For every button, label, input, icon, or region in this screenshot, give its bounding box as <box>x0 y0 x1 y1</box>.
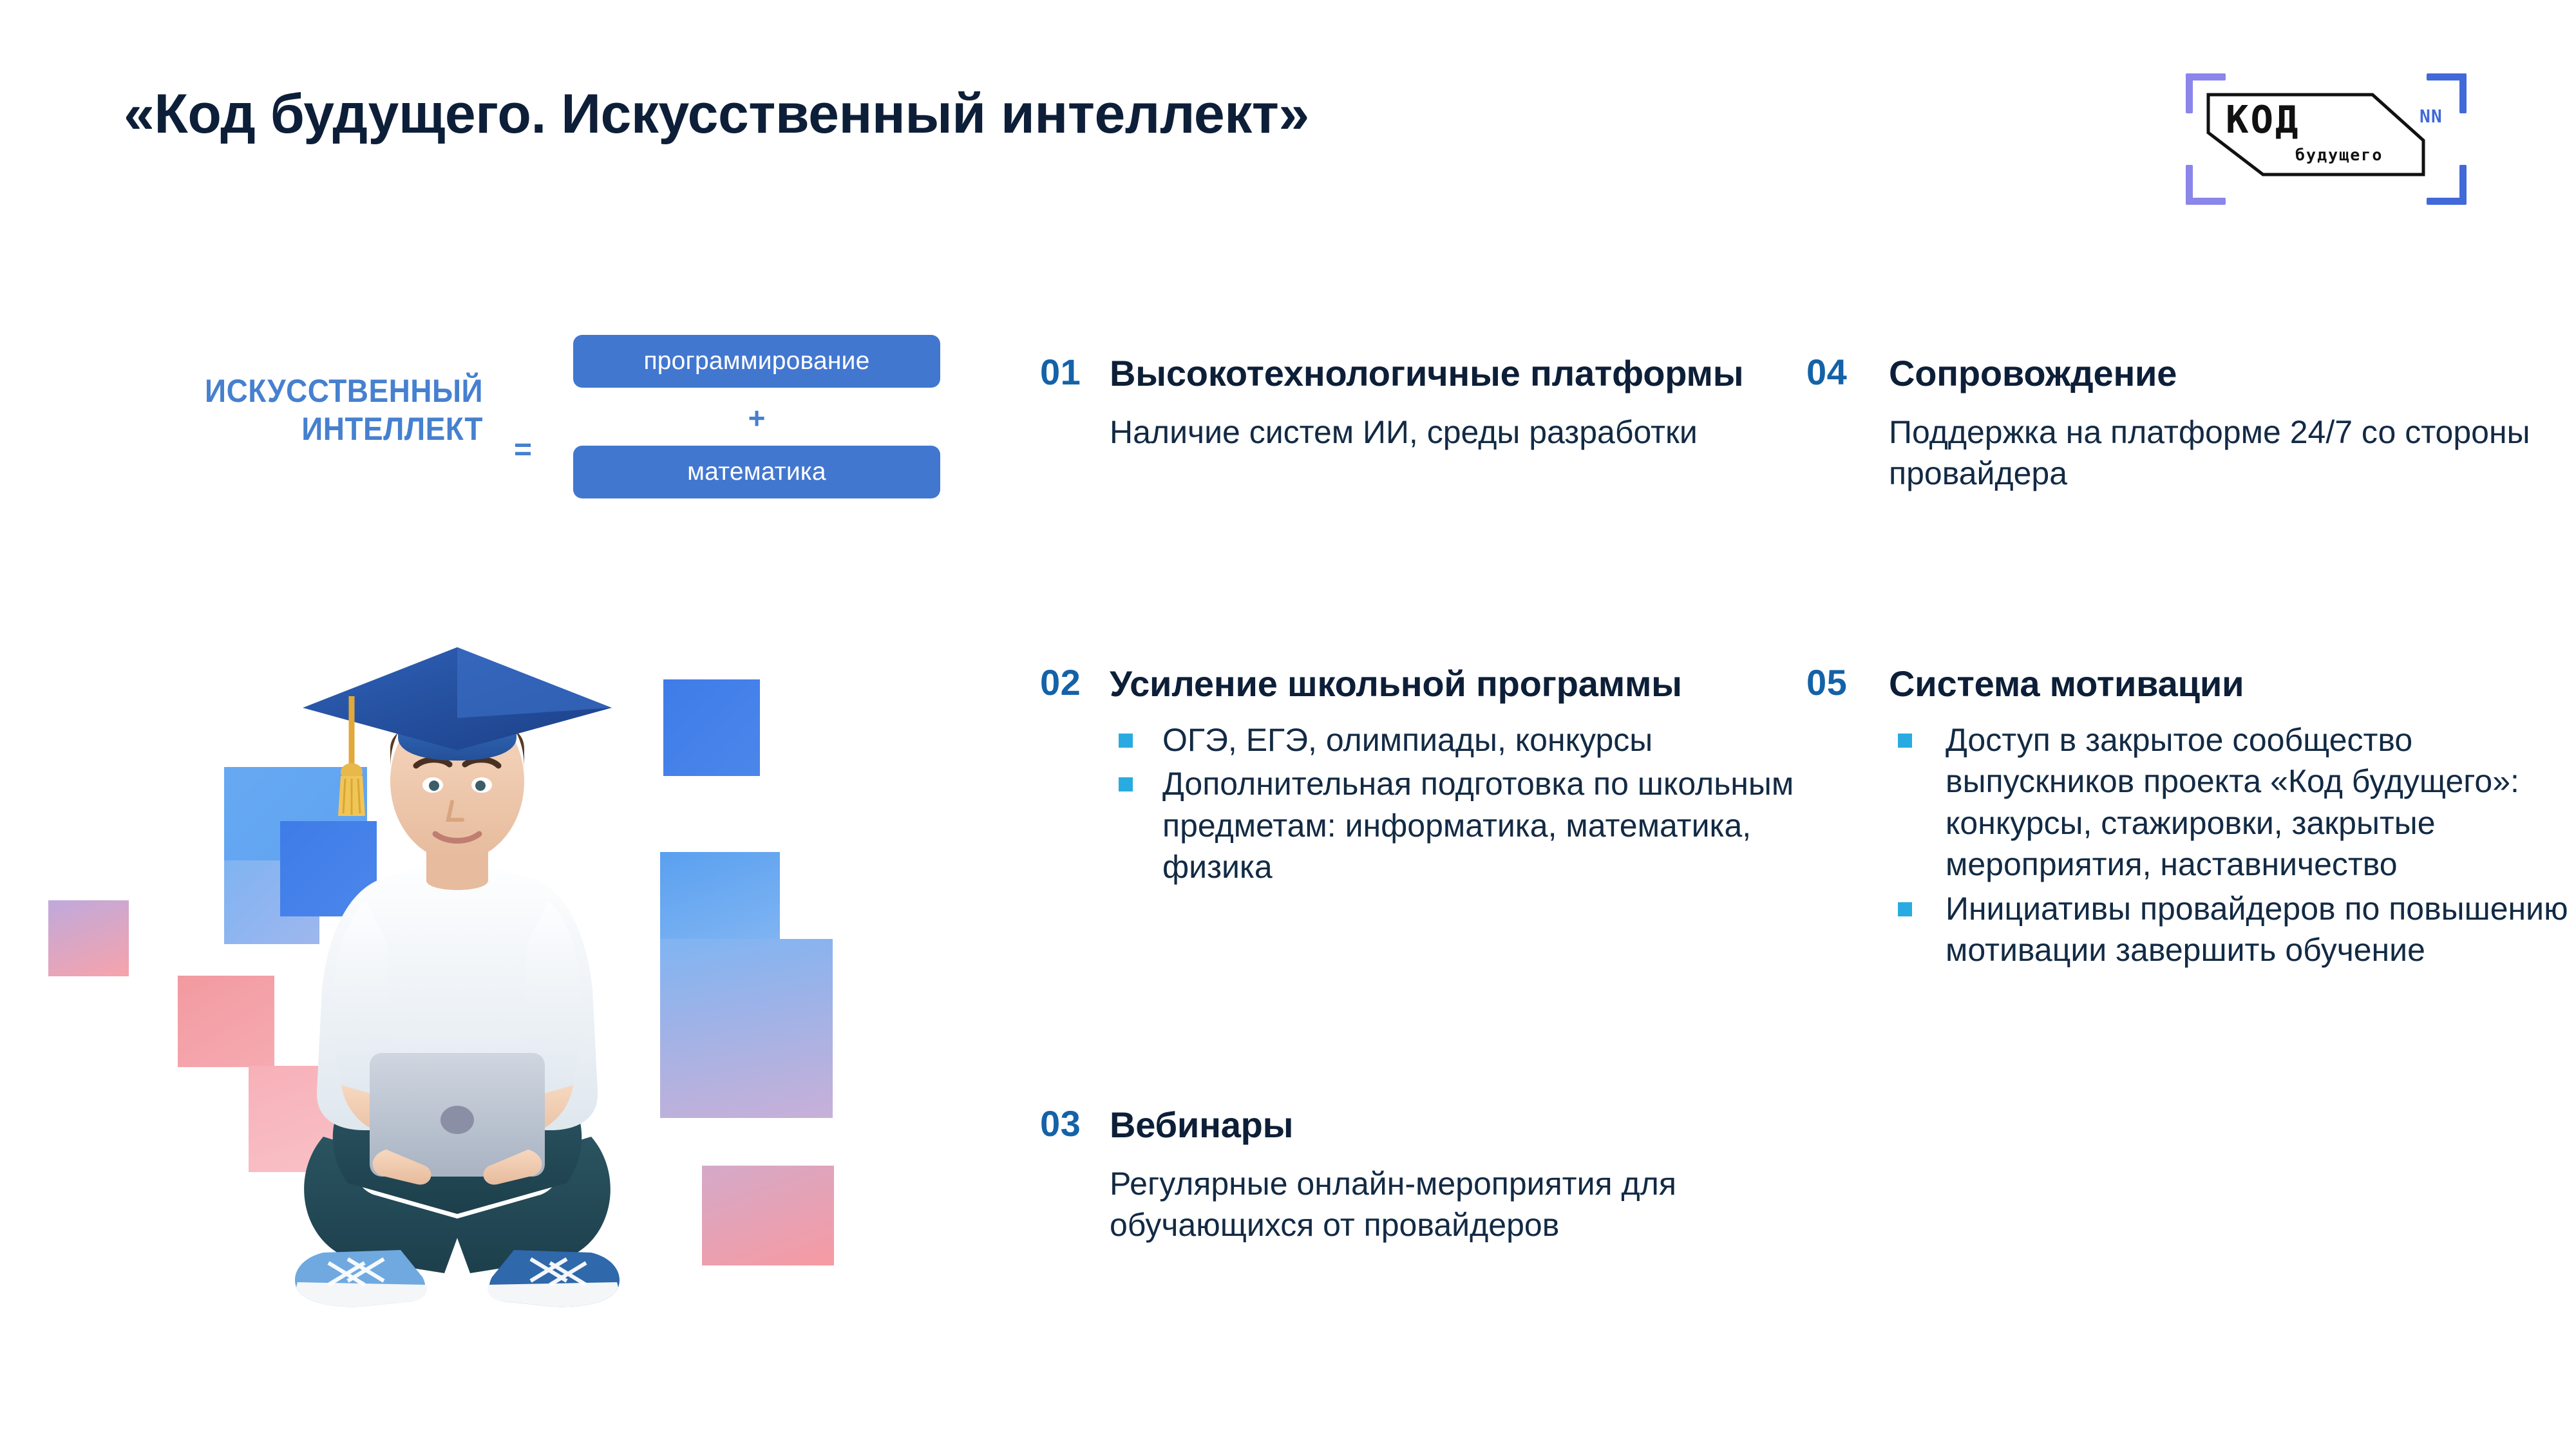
feature-item-04-number: 04 <box>1806 353 1889 392</box>
mosaic-square <box>660 939 833 1118</box>
feature-item-01-body: Наличие систем ИИ, среды разработки <box>1040 412 1864 453</box>
feature-item-01: 01 Высокотехнологичные платформы Наличие… <box>1040 353 1864 453</box>
page-title: «Код будущего. Искусственный интеллект» <box>124 82 1309 146</box>
ai-formula-label-line1: ИСКУССТВЕННЫЙ <box>151 372 483 410</box>
slide-root: «Код будущего. Искусственный интеллект» … <box>0 0 2576 1449</box>
mosaic-square <box>48 900 129 976</box>
feature-item-01-head: 01 Высокотехнологичные платформы <box>1040 353 1864 395</box>
mosaic-square <box>660 852 780 939</box>
logo-badge-ii: ИИ <box>2419 106 2442 127</box>
bullet-square-icon <box>1898 902 1912 916</box>
feature-item-05-bullet-list: Доступ в закрытое сообщество выпускников… <box>1806 719 2576 971</box>
ai-formula-label-line2: ИНТЕЛЛЕКТ <box>151 410 483 448</box>
student-illustration <box>58 641 824 1356</box>
ai-formula-label: ИСКУССТВЕННЫЙ ИНТЕЛЛЕКТ <box>151 372 483 448</box>
bullet-square-icon <box>1898 734 1912 748</box>
feature-item-04-head: 04 Сопровождение <box>1806 353 2566 395</box>
list-item-text: ОГЭ, ЕГЭ, олимпиады, конкурсы <box>1162 722 1653 758</box>
feature-item-02-title: Усиление школьной программы <box>1110 663 1682 705</box>
bullet-square-icon <box>1119 777 1133 791</box>
student-figure-icon <box>251 641 663 1356</box>
list-item-text: Доступ в закрытое сообщество выпускников… <box>1946 722 2519 883</box>
feature-item-02: 02 Усиление школьной программы ОГЭ, ЕГЭ,… <box>1040 663 1826 891</box>
feature-item-01-number: 01 <box>1040 353 1110 392</box>
ai-formula-terms: программирование + математика <box>573 335 940 498</box>
feature-item-03: 03 Вебинары Регулярные онлайн-мероприяти… <box>1040 1104 1826 1245</box>
list-item: Инициативы провайдеров по повышению моти… <box>1889 888 2576 971</box>
ai-formula: ИСКУССТВЕННЫЙ ИНТЕЛЛЕКТ = программирован… <box>122 335 940 535</box>
feature-item-05-head: 05 Система мотивации <box>1806 663 2576 705</box>
list-item-text: Дополнительная подготовка по школьным пр… <box>1162 766 1794 885</box>
feature-item-02-bullet-list: ОГЭ, ЕГЭ, олимпиады, конкурсы Дополнител… <box>1040 719 1826 888</box>
feature-item-03-number: 03 <box>1040 1104 1110 1143</box>
feature-item-03-title: Вебинары <box>1110 1104 1293 1146</box>
logo-corner-bracket-bottom-right <box>2427 165 2467 205</box>
list-item-text: Инициативы провайдеров по повышению моти… <box>1946 891 2568 969</box>
mosaic-square <box>702 1166 834 1265</box>
mosaic-square <box>663 679 760 776</box>
logo-word-budushchego: будущего <box>2295 147 2383 163</box>
feature-item-02-number: 02 <box>1040 663 1110 702</box>
feature-item-04-body: Поддержка на платформе 24/7 со стороны п… <box>1806 412 2566 494</box>
feature-item-05-title: Система мотивации <box>1889 663 2244 705</box>
feature-item-04: 04 Сопровождение Поддержка на платформе … <box>1806 353 2566 494</box>
formula-box-math: математика <box>573 446 940 498</box>
feature-item-04-title: Сопровождение <box>1889 353 2177 395</box>
brand-logo: КОД будущего ИИ <box>2175 45 2478 206</box>
feature-item-03-body: Регулярные онлайн-мероприятия для обучаю… <box>1040 1163 1826 1245</box>
plus-sign: + <box>573 400 940 436</box>
formula-box-programming: программирование <box>573 335 940 388</box>
list-item: Доступ в закрытое сообщество выпускников… <box>1889 719 2576 885</box>
bullet-square-icon <box>1119 734 1133 748</box>
logo-word-kod: КОД <box>2226 100 2300 138</box>
equals-sign: = <box>514 435 532 466</box>
feature-item-05-number: 05 <box>1806 663 1889 702</box>
feature-item-05: 05 Система мотивации Доступ в закрытое с… <box>1806 663 2576 974</box>
feature-item-03-head: 03 Вебинары <box>1040 1104 1826 1146</box>
list-item: ОГЭ, ЕГЭ, олимпиады, конкурсы <box>1110 719 1826 761</box>
feature-item-02-head: 02 Усиление школьной программы <box>1040 663 1826 705</box>
feature-item-01-title: Высокотехнологичные платформы <box>1110 353 1743 395</box>
list-item: Дополнительная подготовка по школьным пр… <box>1110 763 1826 888</box>
